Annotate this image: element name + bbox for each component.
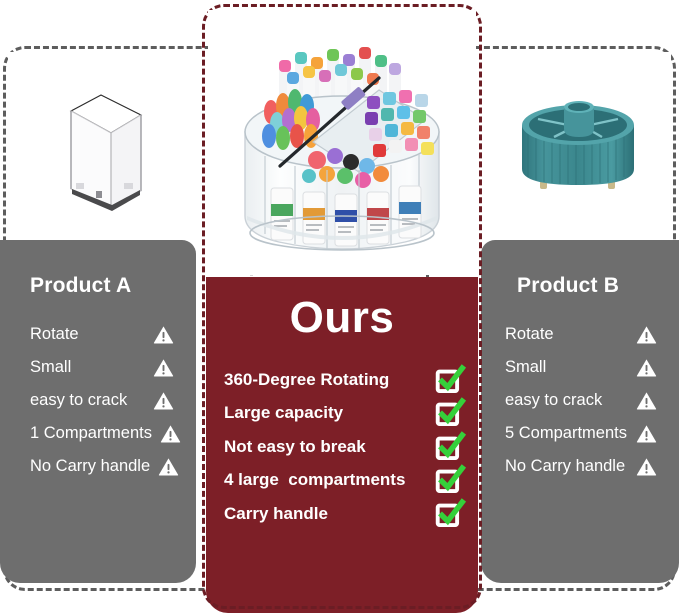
ours-product-image [208,10,476,275]
clear-rotating-art-supply-organizer-icon [217,20,467,265]
list-item: No Carry handle [30,450,174,483]
feature-label: Rotate [505,325,554,344]
product-b-feature-list: Rotate Small easy to crack [505,318,657,483]
warning-triangle-icon [158,457,179,476]
feature-label: No Carry handle [505,457,625,476]
comparison-infographic: Product A Rotate Small easy to cra [0,0,679,613]
clear-acrylic-box-organizer-icon [36,71,166,221]
list-item: Rotate [505,318,657,351]
feature-label: 5 Compartments [505,424,627,443]
feature-label: Rotate [30,325,79,344]
feature-label: Small [30,358,71,377]
product-a-image [8,52,193,240]
list-item: Small [30,351,174,384]
list-item: Small [505,351,657,384]
warning-triangle-icon [636,325,657,344]
feature-label: easy to crack [505,391,602,410]
list-item: 5 Compartments [505,417,657,450]
warning-triangle-icon [160,424,181,443]
warning-triangle-icon [153,358,174,377]
feature-label: Small [505,358,546,377]
list-item: Rotate [30,318,174,351]
product-a-feature-list: Rotate Small easy to crack [30,318,174,483]
product-a-title: Product A [30,274,180,298]
warning-triangle-icon [636,424,657,443]
warning-triangle-icon [636,391,657,410]
list-item: easy to crack [30,384,174,417]
warning-triangle-icon [636,358,657,377]
warning-triangle-icon [153,325,174,344]
warning-triangle-icon [153,391,174,410]
marker-cluster-left [262,89,320,150]
feature-label: 1 Compartments [30,424,152,443]
list-item: 1 Compartments [30,417,174,450]
product-b-title: Product B [517,274,665,298]
feature-label: No Carry handle [30,457,150,476]
product-a-panel: Product A Rotate Small easy to cra [0,240,196,583]
feature-label: easy to crack [30,391,127,410]
list-item: No Carry handle [505,450,657,483]
product-b-panel: Product B Rotate Small easy to cra [481,240,679,583]
list-item: easy to crack [505,384,657,417]
product-b-image [486,52,671,240]
warning-triangle-icon [636,457,657,476]
teal-ribbed-rotating-organizer-icon [504,81,654,211]
